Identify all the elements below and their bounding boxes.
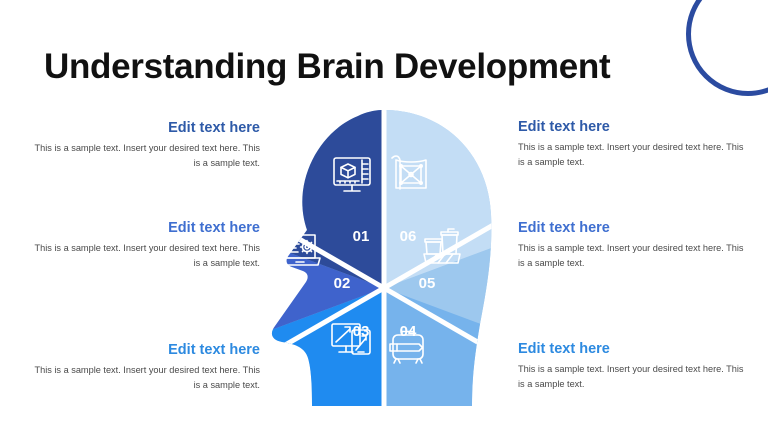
page-title: Understanding Brain Development xyxy=(44,47,610,87)
text-block-right-1[interactable]: Edit text here This is a sample text. In… xyxy=(518,119,750,169)
text-block-right-1-heading: Edit text here xyxy=(518,119,750,136)
segment-02-number: 02 xyxy=(334,275,351,292)
text-block-left-1-body: This is a sample text. Insert your desir… xyxy=(28,141,260,170)
text-block-left-1[interactable]: Edit text here This is a sample text. In… xyxy=(28,120,260,170)
text-block-left-2[interactable]: Edit text here This is a sample text. In… xyxy=(28,220,260,270)
segment-06-number: 06 xyxy=(400,228,417,245)
text-block-left-2-body: This is a sample text. Insert your desir… xyxy=(28,241,260,270)
segment-01-number: 01 xyxy=(353,228,370,245)
text-block-right-3-body: This is a sample text. Insert your desir… xyxy=(518,362,750,391)
text-block-left-2-heading: Edit text here xyxy=(28,220,260,237)
text-block-right-3-heading: Edit text here xyxy=(518,341,750,358)
text-block-left-1-heading: Edit text here xyxy=(28,120,260,137)
segment-05-number: 05 xyxy=(419,275,436,292)
segment-01-fill xyxy=(248,106,384,288)
text-block-right-3[interactable]: Edit text here This is a sample text. In… xyxy=(518,341,750,391)
text-block-right-2-heading: Edit text here xyxy=(518,220,750,237)
text-block-left-3-body: This is a sample text. Insert your desir… xyxy=(28,363,260,392)
text-block-left-3-heading: Edit text here xyxy=(28,342,260,359)
text-block-right-2-body: This is a sample text. Insert your desir… xyxy=(518,241,750,270)
text-block-right-2[interactable]: Edit text here This is a sample text. In… xyxy=(518,220,750,270)
text-block-left-3[interactable]: Edit text here This is a sample text. In… xyxy=(28,342,260,392)
segment-06-fill xyxy=(384,106,520,288)
head-silhouette-six-segment-pie: 01 02 03 04 05 06 xyxy=(248,106,520,406)
slide-canvas: Understanding Brain Development Edit tex… xyxy=(0,0,768,432)
text-block-right-1-body: This is a sample text. Insert your desir… xyxy=(518,140,750,169)
circle-outline-decoration-icon xyxy=(686,0,768,96)
segment-03-number: 03 xyxy=(353,323,370,340)
